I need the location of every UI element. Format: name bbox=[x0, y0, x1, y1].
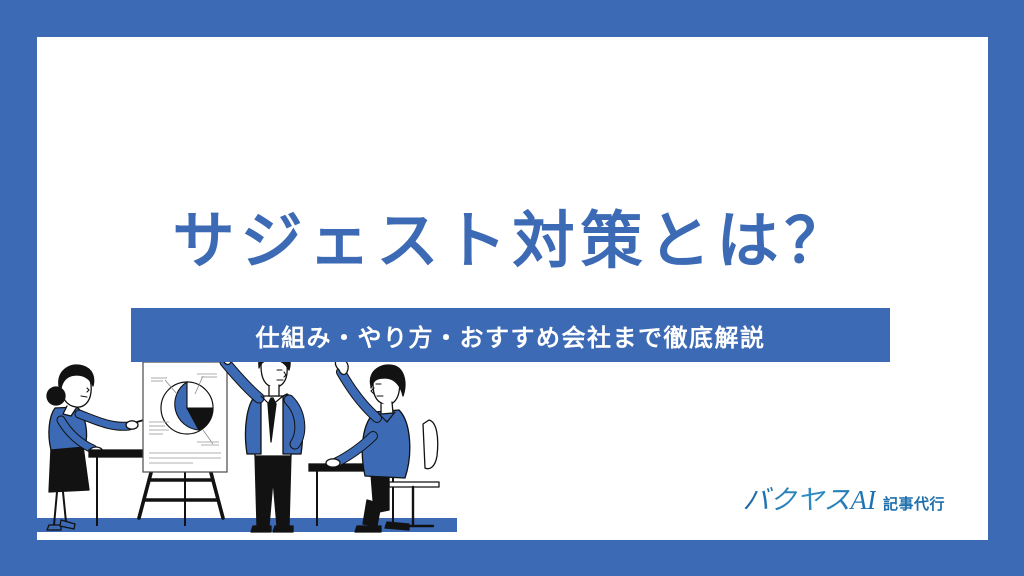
poster-pie-chart bbox=[161, 382, 213, 434]
slide-canvas: サジェスト対策とは？ 仕組み・やり方・おすすめ会社まで徹底解説 バクヤスAI 記… bbox=[37, 37, 988, 540]
figure-man-presenting bbox=[219, 350, 302, 532]
page-title: サジェスト対策とは？ bbox=[37, 209, 988, 274]
brand-logo-name: バクヤスAI bbox=[743, 478, 876, 517]
brand-logo: バクヤスAI 記事代行 bbox=[743, 478, 946, 517]
brand-logo-service: 記事代行 bbox=[883, 493, 945, 514]
business-team-presentation-illustration bbox=[37, 350, 457, 540]
subtitle-text: 仕組み・やり方・おすすめ会社まで徹底解説 bbox=[256, 318, 766, 353]
subtitle-bar: 仕組み・やり方・おすすめ会社まで徹底解説 bbox=[131, 308, 890, 362]
slide-frame: サジェスト対策とは？ 仕組み・やり方・おすすめ会社まで徹底解説 バクヤスAI 記… bbox=[0, 0, 1024, 576]
easel-with-pie-chart-poster bbox=[139, 362, 227, 518]
figure-seated-hand-raised bbox=[326, 359, 439, 532]
